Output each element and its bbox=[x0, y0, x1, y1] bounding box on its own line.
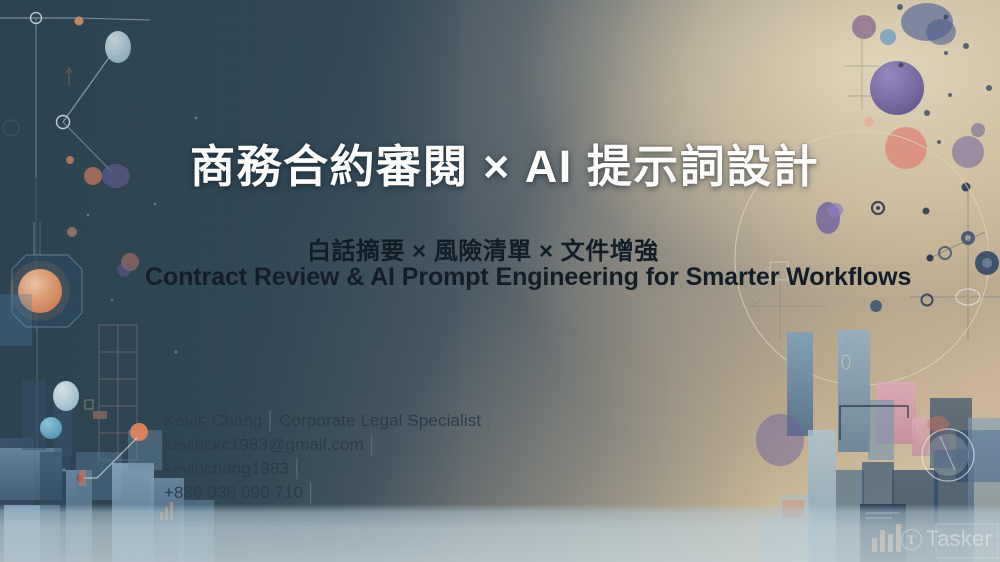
presentation-slide: 商務合約審閱 × AI 提示詞設計 白話摘要 × 風險清單 × 文件增強 Con… bbox=[0, 0, 1000, 562]
tasker-watermark-label: Tasker bbox=[926, 526, 992, 552]
tasker-watermark: T Tasker bbox=[901, 526, 992, 552]
film-grain-overlay bbox=[0, 0, 1000, 562]
tasker-logo-icon: T bbox=[901, 529, 922, 550]
